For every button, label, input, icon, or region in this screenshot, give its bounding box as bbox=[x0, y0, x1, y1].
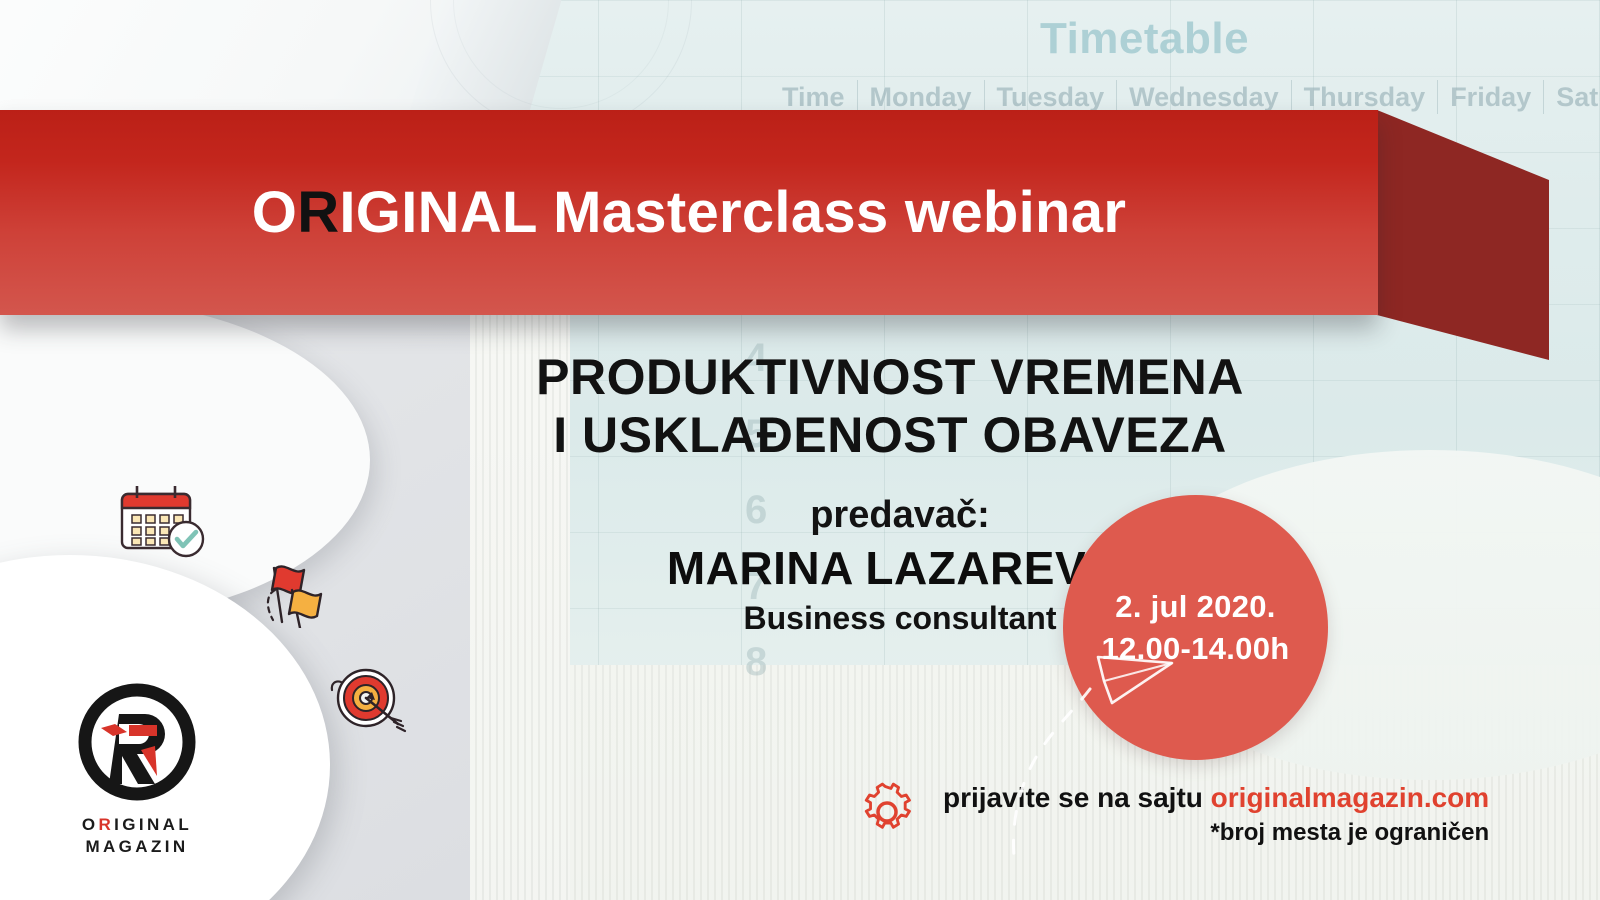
speaker-role: Business consultant bbox=[200, 596, 1600, 640]
ribbon-fold bbox=[1377, 110, 1549, 360]
banner-title-o: O bbox=[252, 179, 297, 246]
timetable-column-tuesday: Tuesday bbox=[985, 80, 1118, 114]
logo-rest: IGINAL bbox=[114, 815, 192, 834]
speaker-label: predavač: bbox=[200, 490, 1600, 540]
gear-icon bbox=[855, 780, 925, 850]
timetable-column-headers: Time Monday Tuesday Wednesday Thursday F… bbox=[770, 80, 1600, 114]
ribbon-banner: ORIGINAL Masterclass webinar bbox=[0, 110, 1600, 360]
logo-o: O bbox=[82, 815, 99, 834]
speaker-block: predavač: MARINA LAZAREVIĆ Business cons… bbox=[0, 490, 1600, 640]
headline-line-1: PRODUKTIVNOST VREMENA bbox=[180, 348, 1600, 406]
timetable-column-time: Time bbox=[770, 80, 858, 114]
target-arrow-icon bbox=[325, 660, 411, 742]
webinar-poster: Timetable Time Monday Tuesday Wednesday … bbox=[0, 0, 1600, 900]
timetable-title: Timetable bbox=[1040, 14, 1249, 64]
timetable-column-friday: Friday bbox=[1438, 80, 1544, 114]
banner-title-r-accent: R bbox=[297, 179, 339, 246]
logo: ORIGINAL MAGAZIN bbox=[62, 680, 212, 858]
logo-r-accent: R bbox=[98, 815, 114, 834]
date-badge-date: 2. jul 2020. bbox=[1115, 586, 1275, 628]
speaker-name: MARINA LAZAREVIĆ bbox=[200, 540, 1600, 596]
banner-title-rest: IGINAL Masterclass webinar bbox=[339, 179, 1126, 246]
headline-line-2: I USKLAĐENOST OBAVEZA bbox=[180, 406, 1600, 464]
calendar-check-icon bbox=[118, 484, 210, 560]
timetable-column-wednesday: Wednesday bbox=[1117, 80, 1292, 114]
original-magazin-logo-icon bbox=[75, 680, 199, 804]
timetable-column-thursday: Thursday bbox=[1292, 80, 1439, 114]
logo-word-line1: ORIGINAL bbox=[62, 814, 212, 836]
paper-sheet-topleft bbox=[0, 0, 490, 120]
logo-word-line2: MAGAZIN bbox=[62, 836, 212, 858]
flags-icon bbox=[262, 538, 334, 628]
logo-wordmark: ORIGINAL MAGAZIN bbox=[62, 814, 212, 858]
cta-website-link[interactable]: originalmagazin.com bbox=[1211, 782, 1490, 813]
paper-plane-icon bbox=[980, 645, 1190, 865]
timetable-column-monday: Monday bbox=[858, 80, 985, 114]
banner-title: ORIGINAL Masterclass webinar bbox=[0, 110, 1378, 315]
timetable-column-saturday: Saturday bbox=[1544, 80, 1600, 114]
headline: PRODUKTIVNOST VREMENA I USKLAĐENOST OBAV… bbox=[0, 348, 1600, 464]
